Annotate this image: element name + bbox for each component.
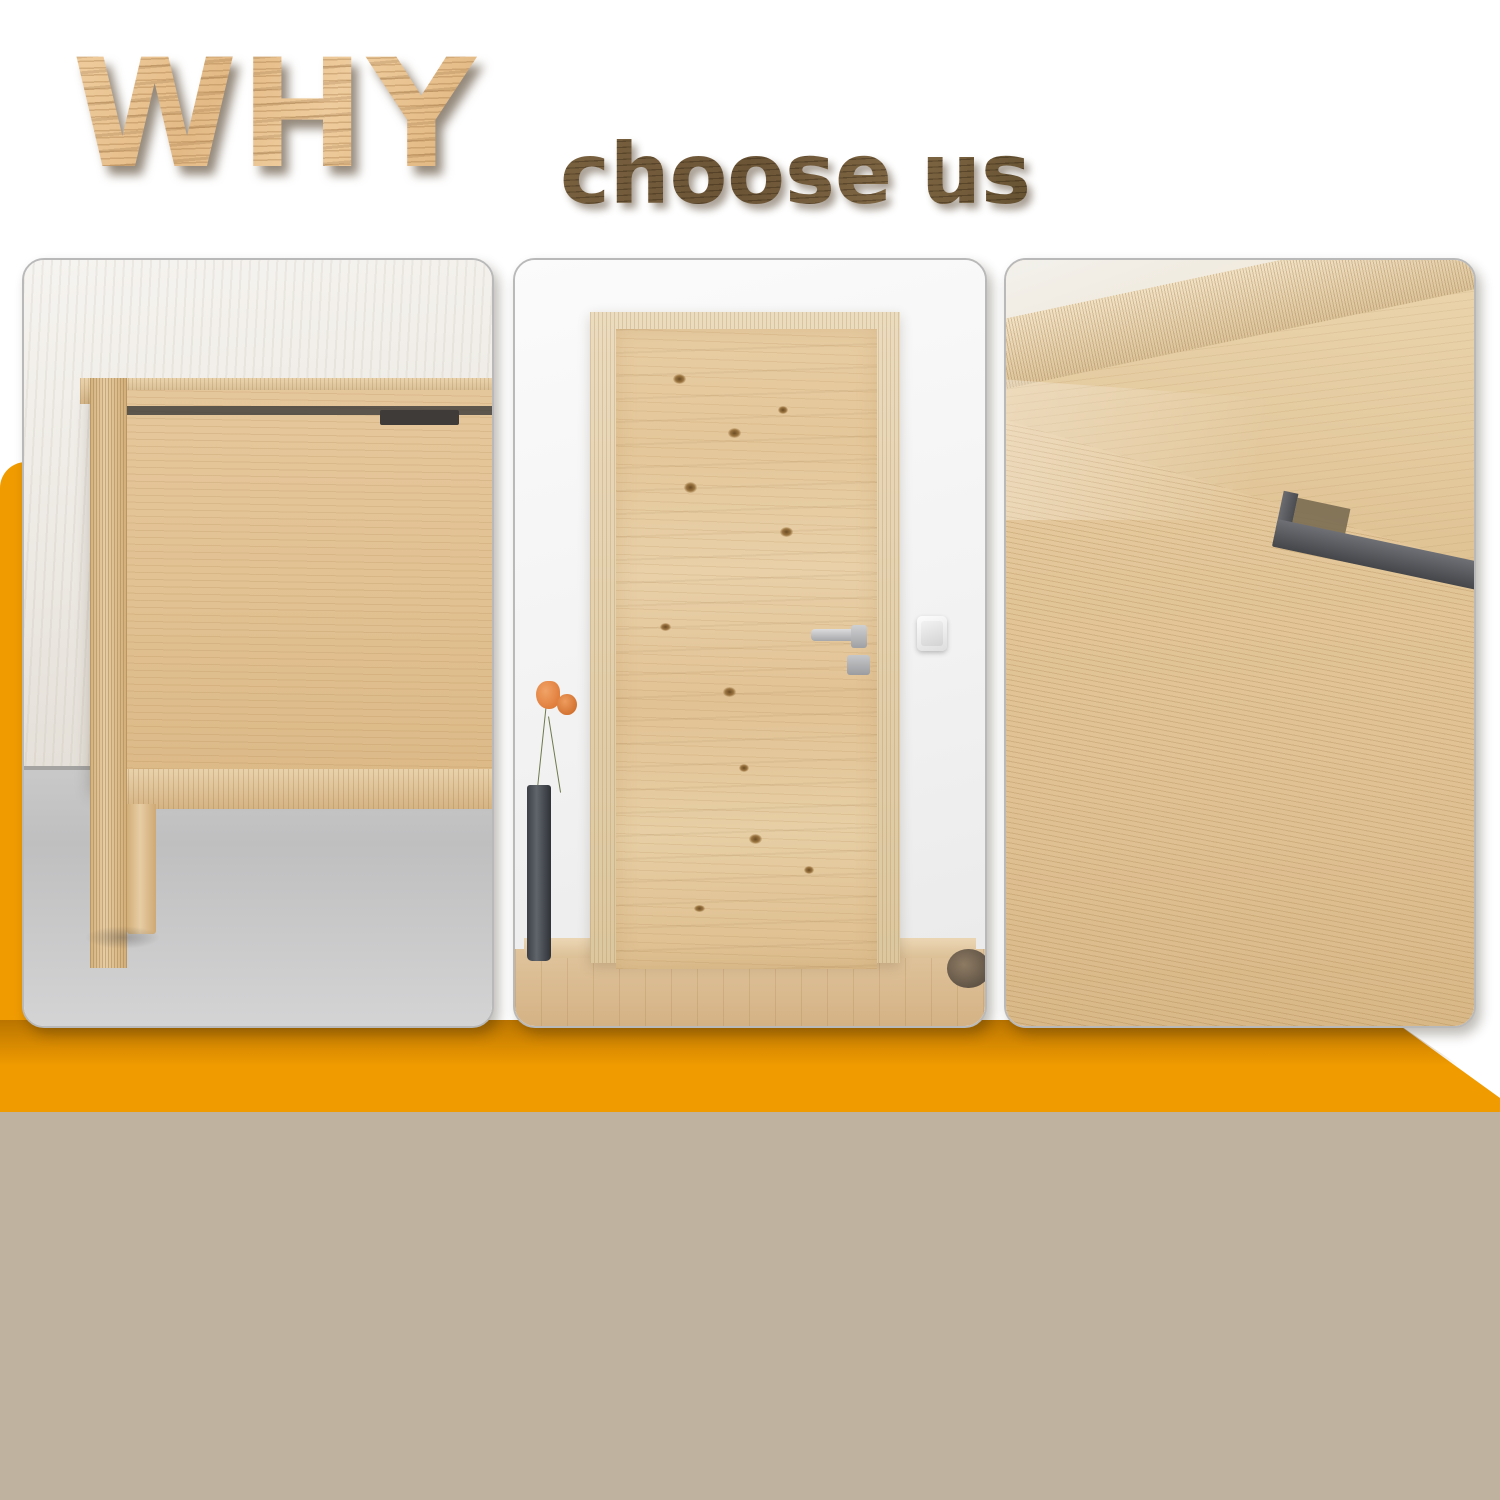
wood-knot bbox=[673, 374, 686, 384]
oak-door-photo bbox=[515, 260, 985, 1026]
oak-sideboard-photo bbox=[24, 260, 492, 1026]
wood-knot bbox=[694, 905, 704, 913]
gallery-card-oak-door[interactable] bbox=[513, 258, 987, 1028]
floor-vase bbox=[527, 785, 551, 961]
banner-header: WHY choose us bbox=[0, 34, 1500, 204]
cabinet-handle bbox=[380, 410, 460, 425]
cabinet-door-panel bbox=[90, 390, 492, 788]
dried-flower bbox=[536, 681, 560, 709]
wood-knot bbox=[749, 834, 762, 844]
wood-knot bbox=[804, 866, 814, 874]
cabinet-leg bbox=[127, 804, 156, 934]
headline-choose-us: choose us bbox=[560, 132, 1031, 216]
door-lock-escutcheon bbox=[847, 655, 871, 675]
features-panel: HIGH QUALITY MATERIAL NATURE OAK WOOD WI… bbox=[0, 1112, 1500, 1500]
gallery-card-oak-sideboard[interactable] bbox=[22, 258, 494, 1028]
light-switch bbox=[917, 616, 947, 651]
promo-banner: WHY choose us bbox=[0, 0, 1500, 1500]
headline-why: WHY bbox=[72, 40, 478, 190]
wood-knot bbox=[728, 428, 741, 438]
wood-knot bbox=[660, 623, 670, 631]
cabinet-left-post bbox=[90, 378, 127, 968]
oak-door-leaf bbox=[616, 329, 877, 969]
wood-knot bbox=[684, 482, 697, 492]
wood-log-decor bbox=[947, 949, 985, 987]
wood-knot bbox=[723, 687, 736, 697]
leg-shadow bbox=[85, 926, 160, 949]
wood-knot bbox=[780, 527, 793, 537]
cabinet-bottom-rail bbox=[108, 769, 492, 810]
wood-knot bbox=[739, 764, 749, 772]
wood-knot bbox=[778, 406, 788, 414]
dried-flower bbox=[557, 694, 577, 715]
gallery-card-oak-panel[interactable] bbox=[1004, 258, 1476, 1028]
handle-rose bbox=[851, 625, 867, 648]
oak-panel-handle-photo bbox=[1006, 260, 1474, 1026]
